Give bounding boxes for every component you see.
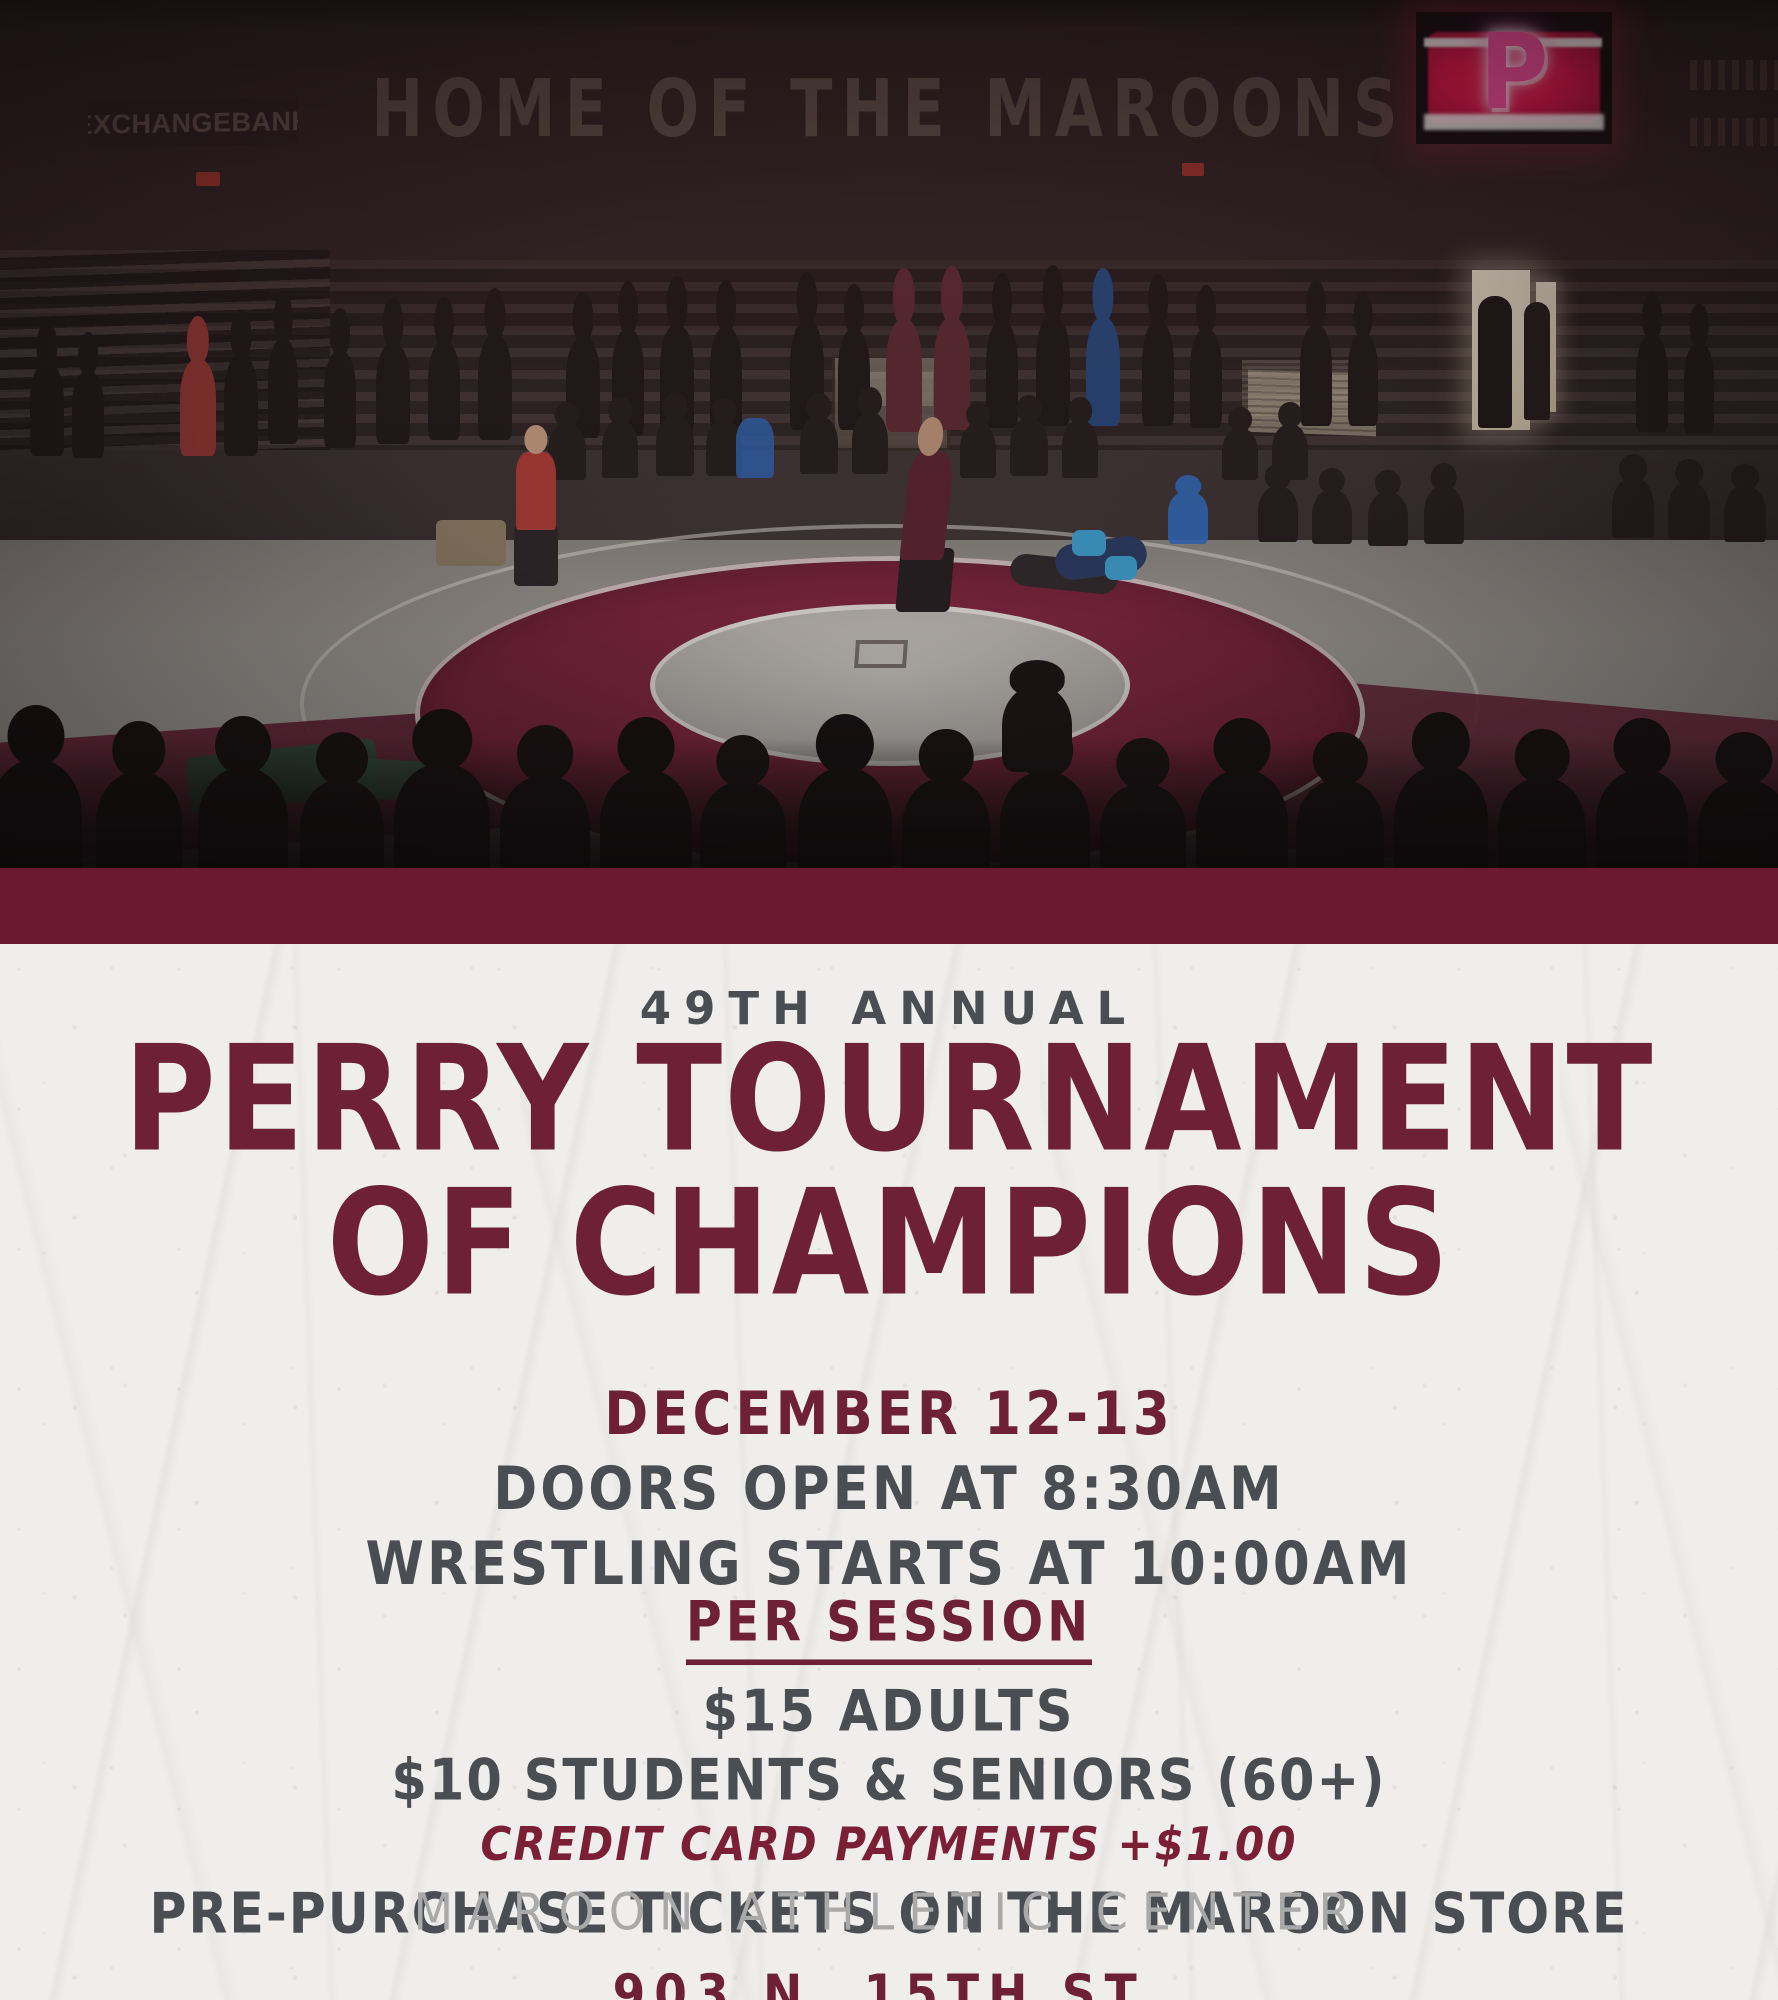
- title-line-2: OF CHAMPIONS: [0, 1174, 1778, 1313]
- referee: [899, 452, 954, 560]
- seated-spectator-blue-hood: [1168, 492, 1208, 544]
- doors-open-time: DOORS OPEN AT 8:30AM: [0, 1455, 1778, 1523]
- page-title: PERRY TOURNAMENT OF CHAMPIONS: [0, 1030, 1778, 1293]
- seated-spectator: [960, 424, 996, 478]
- seated-spectator: [1222, 428, 1258, 480]
- seated-spectator: [1668, 482, 1710, 540]
- hero-photo: HOME OF THE MAROONS EXCHANGEBANK P: [0, 0, 1778, 868]
- seated-spectator: [1312, 490, 1352, 544]
- spectator: [324, 352, 356, 448]
- price-students-seniors: $10 STUDENTS & SENIORS (60+): [0, 1748, 1778, 1814]
- seated-spectator: [602, 420, 638, 478]
- seated-spectator: [1612, 478, 1654, 538]
- spectator: [376, 344, 410, 444]
- seated-spectator: [1258, 486, 1298, 542]
- venue-address: 903 N. 15TH ST.: [0, 1964, 1778, 2000]
- spectator: [478, 336, 512, 440]
- event-poster: HOME OF THE MAROONS EXCHANGEBANK P: [0, 0, 1778, 2000]
- spectator: [1684, 344, 1714, 434]
- seated-spectator: [1724, 486, 1766, 542]
- spectator: [1348, 334, 1378, 426]
- spectator: [428, 342, 460, 440]
- pricing-header-wrap: PER SESSION: [0, 1590, 1778, 1657]
- seated-spectator: [1062, 420, 1098, 478]
- spectator: [268, 340, 298, 444]
- seated-spectator: [656, 416, 694, 476]
- wrestling-start-time: WRESTLING STARTS AT 10:00AM: [0, 1530, 1778, 1598]
- seated-spectator: [1424, 486, 1464, 544]
- wrestler-shoe-1: [1072, 530, 1106, 556]
- spectator: [1300, 326, 1332, 426]
- spectator: [30, 364, 64, 456]
- venue-block: MAROON ATHLETIC CENTER 903 N. 15TH ST.: [0, 1882, 1778, 2000]
- spectator: [986, 322, 1018, 428]
- seated-spectator: [852, 412, 888, 474]
- spectator: [1142, 322, 1174, 426]
- spectator: [1190, 330, 1222, 428]
- spectator: [180, 360, 216, 456]
- spectator: [886, 320, 922, 432]
- seated-coach-chair: [436, 520, 506, 566]
- credit-card-surcharge-note: CREDIT CARD PAYMENTS +$1.00: [0, 1817, 1778, 1871]
- spectator: [224, 356, 258, 456]
- spectator: [72, 372, 104, 458]
- maroon-divider-bar: [0, 868, 1778, 944]
- spectator: [1636, 336, 1668, 432]
- venue-name: MAROON ATHLETIC CENTER: [0, 1882, 1778, 1941]
- schedule-block: DECEMBER 12-13 DOORS OPEN AT 8:30AM WRES…: [0, 1380, 1778, 1591]
- foreground-shadow: [0, 738, 1778, 868]
- seated-spectator: [1368, 492, 1408, 546]
- coach-red-shirt: [516, 452, 556, 530]
- price-adults: $15 ADULTS: [0, 1679, 1778, 1745]
- seated-spectator-blue: [736, 418, 774, 478]
- title-line-1: PERRY TOURNAMENT: [0, 1030, 1778, 1169]
- seated-spectator: [1010, 418, 1048, 476]
- pricing-header: PER SESSION: [686, 1590, 1092, 1665]
- event-date: DECEMBER 12-13: [0, 1380, 1778, 1448]
- spectator: [934, 318, 970, 430]
- seated-spectator: [800, 416, 838, 474]
- wrestler-shoe-2: [1105, 556, 1137, 580]
- coach-legs: [514, 524, 558, 586]
